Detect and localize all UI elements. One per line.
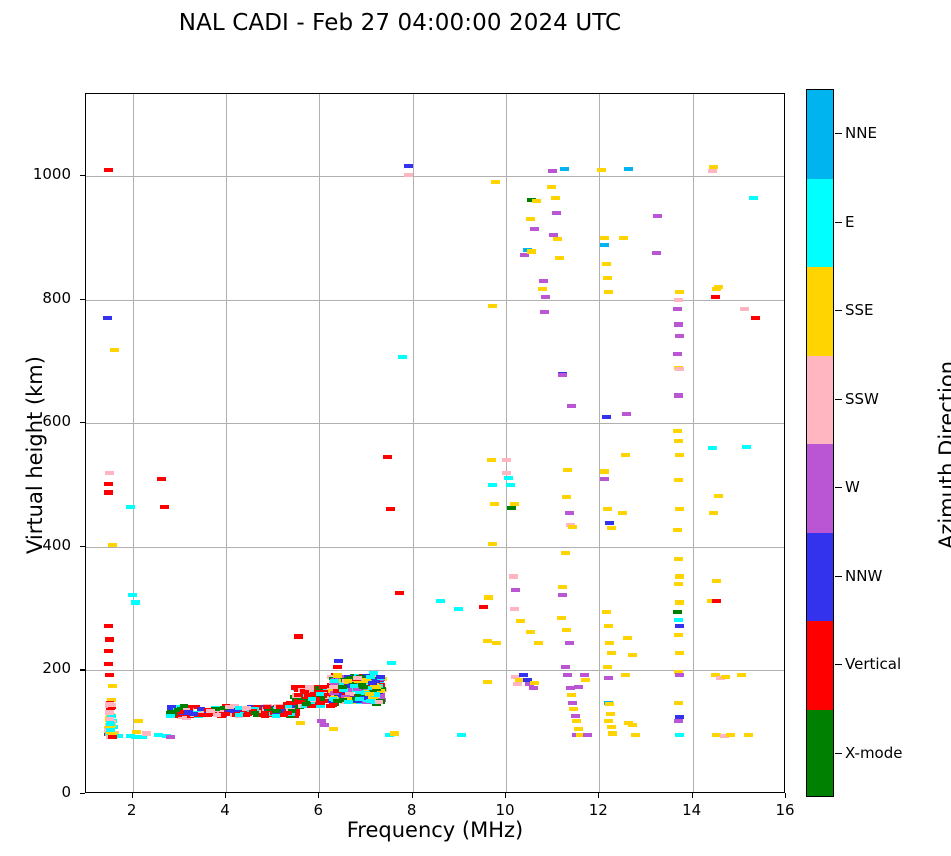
colorbar-label-nne: NNE: [845, 124, 877, 142]
echo-point: [263, 705, 272, 709]
echo-point: [581, 678, 590, 682]
y-tick-label: 1000: [11, 165, 71, 183]
echo-point: [674, 701, 683, 705]
echo-point: [628, 723, 637, 727]
echo-point: [737, 673, 746, 677]
echo-point: [375, 700, 384, 704]
x-tick-label: 14: [662, 801, 722, 819]
echo-point: [365, 692, 374, 696]
echo-point: [607, 651, 616, 655]
echo-point: [106, 717, 115, 721]
colorbar-segment-x-mode[interactable]: [807, 710, 833, 798]
colorbar-segment-sse[interactable]: [807, 267, 833, 356]
echo-point: [744, 733, 753, 737]
echo-point: [329, 727, 338, 731]
colorbar-tick: [835, 576, 842, 577]
echo-point: [604, 719, 613, 723]
echo-point: [603, 507, 612, 511]
echo-point: [184, 710, 193, 714]
echo-point: [562, 495, 571, 499]
echo-point: [502, 471, 511, 475]
colorbar-tick: [835, 222, 842, 223]
echo-point: [534, 641, 543, 645]
echo-point: [510, 502, 519, 506]
echo-point: [276, 705, 285, 709]
x-tick: [225, 793, 226, 798]
colorbar-segment-ssw[interactable]: [807, 356, 833, 445]
echo-point: [350, 684, 359, 688]
echo-point: [675, 624, 684, 628]
echo-point: [319, 685, 328, 689]
echo-point: [104, 624, 113, 628]
echo-point: [294, 634, 303, 638]
x-tick: [412, 793, 413, 798]
x-tick-label: 4: [195, 801, 255, 819]
echo-point: [674, 478, 683, 482]
x-tick: [598, 793, 599, 798]
colorbar-label-ssw: SSW: [845, 390, 879, 408]
echo-point: [622, 412, 631, 416]
echo-point: [359, 685, 368, 689]
echo-point: [105, 702, 114, 706]
echo-point: [673, 307, 682, 311]
echo-point: [166, 735, 175, 739]
echo-point: [330, 679, 339, 683]
ionogram-figure: NAL CADI - Feb 27 04:00:00 2024 UTC 2468…: [0, 0, 951, 856]
echo-point: [551, 196, 560, 200]
echo-point: [529, 686, 538, 690]
echo-point: [558, 593, 567, 597]
echo-point: [142, 731, 151, 735]
echo-point: [507, 506, 516, 510]
echo-point: [561, 665, 570, 669]
echo-point: [618, 511, 627, 515]
echo-point: [673, 429, 682, 433]
echo-point: [302, 702, 311, 706]
echo-point: [366, 699, 375, 703]
echo-point: [316, 701, 325, 705]
echo-point: [530, 227, 539, 231]
echo-point: [621, 453, 630, 457]
echo-point: [180, 704, 189, 708]
colorbar-title: Azimuth Direction: [935, 205, 951, 705]
echo-point: [709, 511, 718, 515]
echo-point: [674, 719, 683, 723]
echo-point: [386, 507, 395, 511]
echo-point: [675, 733, 684, 737]
echo-point: [126, 505, 135, 509]
echo-point: [628, 653, 637, 657]
colorbar-tick: [835, 664, 842, 665]
echo-point: [368, 681, 377, 685]
echo-point: [560, 167, 569, 171]
echo-point: [334, 659, 343, 663]
echo-point: [526, 217, 535, 221]
echo-point: [675, 574, 684, 578]
colorbar-segment-e[interactable]: [807, 179, 833, 268]
echo-point: [160, 505, 169, 509]
colorbar-label-sse: SSE: [845, 301, 874, 319]
echo-point: [597, 168, 606, 172]
x-tick-label: 10: [475, 801, 535, 819]
y-tick: [80, 299, 85, 300]
echo-point: [492, 641, 501, 645]
echo-point: [454, 607, 463, 611]
echo-point: [558, 585, 567, 589]
echo-point: [353, 676, 362, 680]
echo-point: [571, 714, 580, 718]
echo-point: [355, 697, 364, 701]
echo-point: [726, 733, 735, 737]
echo-point: [106, 728, 115, 732]
x-tick: [785, 793, 786, 798]
echo-point: [488, 542, 497, 546]
echo-point: [510, 607, 519, 611]
echo-point: [203, 713, 212, 717]
echo-point: [624, 167, 633, 171]
echo-point: [605, 521, 614, 525]
echo-point: [235, 713, 244, 717]
echo-point: [105, 471, 114, 475]
y-tick: [80, 175, 85, 176]
echo-point: [157, 477, 166, 481]
echo-point: [538, 287, 547, 291]
echo-point: [540, 310, 549, 314]
echo-point: [166, 714, 175, 718]
echo-point: [491, 180, 500, 184]
echo-point: [721, 675, 730, 679]
echo-point: [673, 528, 682, 532]
y-tick: [80, 422, 85, 423]
colorbar[interactable]: [806, 89, 834, 797]
x-tick-label: 2: [102, 801, 162, 819]
echo-point: [105, 673, 114, 677]
echo-point: [574, 727, 583, 731]
echo-point: [308, 697, 317, 701]
echo-point: [604, 624, 613, 628]
echo-point: [711, 295, 720, 299]
echo-point: [749, 196, 758, 200]
echo-point: [376, 675, 385, 679]
echo-point: [675, 600, 684, 604]
echo-point: [619, 236, 628, 240]
echo-point: [251, 711, 260, 715]
echo-point: [138, 735, 147, 739]
echo-point: [513, 682, 522, 686]
echo-point: [390, 731, 399, 735]
echo-point: [574, 685, 583, 689]
echo-point: [565, 511, 574, 515]
echo-point: [206, 709, 215, 713]
x-tick-label: 6: [288, 801, 348, 819]
echo-point: [225, 705, 234, 709]
echo-point: [675, 651, 684, 655]
echo-point: [333, 673, 342, 677]
echo-point: [344, 700, 353, 704]
colorbar-tick: [835, 487, 842, 488]
echo-point: [558, 373, 567, 377]
y-tick-label: 0: [11, 783, 71, 801]
echo-point: [398, 355, 407, 359]
y-axis-label: Virtual height (km): [23, 205, 47, 705]
echo-point: [673, 610, 682, 614]
echo-point: [483, 680, 492, 684]
echo-point: [603, 276, 612, 280]
echo-point: [333, 665, 342, 669]
echo-point: [105, 637, 114, 641]
echo-point: [674, 322, 683, 326]
echo-point: [213, 713, 222, 717]
echo-point: [568, 525, 577, 529]
echo-point: [338, 685, 347, 689]
echo-point: [516, 619, 525, 623]
echo-point: [603, 665, 612, 669]
echo-point: [552, 211, 561, 215]
echo-point: [621, 673, 630, 677]
colorbar-segment-w[interactable]: [807, 444, 833, 533]
colorbar-label-x-mode: X-mode: [845, 744, 902, 762]
echo-point: [300, 689, 309, 693]
echo-point: [108, 684, 117, 688]
echo-point: [131, 600, 140, 604]
echo-point: [483, 639, 492, 643]
x-tick: [505, 793, 506, 798]
echo-point: [742, 445, 751, 449]
echo-point: [167, 710, 176, 714]
echo-point: [607, 526, 616, 530]
echo-point: [383, 455, 392, 459]
echo-point: [712, 599, 721, 603]
scatter-points: [86, 94, 784, 792]
echo-point: [395, 591, 404, 595]
echo-point: [607, 725, 616, 729]
echo-point: [623, 636, 632, 640]
echo-point: [526, 630, 535, 634]
echo-point: [674, 582, 683, 586]
echo-point: [320, 723, 329, 727]
chart-title: NAL CADI - Feb 27 04:00:00 2024 UTC: [0, 10, 800, 36]
echo-point: [333, 699, 342, 703]
echo-point: [567, 693, 576, 697]
x-tick-label: 16: [755, 801, 815, 819]
echo-point: [675, 507, 684, 511]
echo-point: [714, 494, 723, 498]
echo-point: [567, 404, 576, 408]
echo-point: [600, 469, 609, 473]
echo-point: [104, 482, 113, 486]
plot-area: [85, 93, 785, 793]
echo-point: [557, 616, 566, 620]
echo-point: [604, 290, 613, 294]
echo-point: [553, 237, 562, 241]
echo-point: [479, 605, 488, 609]
x-tick-label: 12: [568, 801, 628, 819]
echo-point: [283, 711, 292, 715]
echo-point: [605, 702, 614, 706]
echo-point: [404, 173, 413, 177]
x-tick: [692, 793, 693, 798]
echo-point: [541, 295, 550, 299]
y-tick: [80, 669, 85, 670]
echo-point: [261, 714, 270, 718]
echo-point: [110, 348, 119, 352]
colorbar-segment-vertical[interactable]: [807, 621, 833, 710]
echo-point: [488, 304, 497, 308]
echo-point: [104, 490, 113, 494]
echo-point: [751, 316, 760, 320]
echo-point: [104, 649, 113, 653]
echo-point: [674, 393, 683, 397]
echo-point: [605, 641, 614, 645]
echo-point: [366, 675, 375, 679]
echo-point: [132, 730, 141, 734]
x-tick: [318, 793, 319, 798]
echo-point: [602, 262, 611, 266]
echo-point: [108, 543, 117, 547]
y-tick: [80, 793, 85, 794]
echo-point: [602, 415, 611, 419]
echo-point: [490, 502, 499, 506]
echo-point: [509, 574, 518, 578]
echo-point: [511, 588, 520, 592]
echo-point: [675, 367, 684, 371]
echo-point: [563, 673, 572, 677]
colorbar-label-w: W: [845, 478, 860, 496]
echo-point: [740, 307, 749, 311]
echo-point: [108, 735, 117, 739]
echo-point: [104, 168, 113, 172]
echo-point: [602, 610, 611, 614]
echo-point: [572, 719, 581, 723]
echo-point: [714, 285, 723, 289]
echo-point: [675, 334, 684, 338]
echo-point: [344, 679, 353, 683]
echo-point: [604, 676, 613, 680]
echo-point: [653, 214, 662, 218]
echo-point: [502, 458, 511, 462]
colorbar-label-nnw: NNW: [845, 567, 882, 585]
colorbar-tick: [835, 753, 842, 754]
echo-point: [674, 439, 683, 443]
echo-point: [105, 710, 114, 714]
echo-point: [563, 468, 572, 472]
colorbar-tick: [835, 399, 842, 400]
x-axis-label: Frequency (MHz): [85, 818, 785, 842]
echo-point: [673, 352, 682, 356]
echo-point: [674, 633, 683, 637]
echo-point: [506, 483, 515, 487]
echo-point: [387, 661, 396, 665]
x-tick: [132, 793, 133, 798]
echo-point: [242, 706, 251, 710]
echo-point: [562, 628, 571, 632]
echo-point: [527, 249, 536, 253]
echo-point: [484, 595, 493, 599]
echo-point: [675, 290, 684, 294]
echo-point: [488, 483, 497, 487]
echo-point: [568, 701, 577, 705]
echo-point: [555, 256, 564, 260]
colorbar-segment-nnw[interactable]: [807, 533, 833, 622]
echo-point: [305, 685, 314, 689]
echo-point: [128, 593, 137, 597]
echo-point: [316, 692, 325, 696]
echo-point: [708, 169, 717, 173]
x-tick-label: 8: [382, 801, 442, 819]
echo-point: [329, 685, 338, 689]
echo-point: [539, 279, 548, 283]
echo-point: [561, 551, 570, 555]
echo-point: [600, 236, 609, 240]
echo-point: [134, 719, 143, 723]
echo-point: [652, 251, 661, 255]
echo-point: [674, 618, 683, 622]
echo-point: [600, 243, 609, 247]
echo-point: [436, 599, 445, 603]
y-tick: [80, 546, 85, 547]
echo-point: [504, 476, 513, 480]
echo-point: [103, 316, 112, 320]
echo-point: [712, 579, 721, 583]
echo-point: [631, 733, 640, 737]
echo-point: [547, 185, 556, 189]
echo-point: [457, 733, 466, 737]
colorbar-tick: [835, 133, 842, 134]
echo-point: [675, 673, 684, 677]
echo-point: [404, 164, 413, 168]
echo-point: [565, 641, 574, 645]
echo-point: [675, 453, 684, 457]
echo-point: [608, 731, 617, 735]
echo-point: [600, 477, 609, 481]
echo-point: [487, 458, 496, 462]
echo-point: [104, 662, 113, 666]
echo-point: [606, 712, 615, 716]
echo-point: [532, 199, 541, 203]
colorbar-label-e: E: [845, 213, 854, 231]
echo-point: [674, 298, 683, 302]
echo-point: [708, 446, 717, 450]
echo-point: [674, 557, 683, 561]
colorbar-tick: [835, 310, 842, 311]
echo-point: [296, 721, 305, 725]
echo-point: [530, 681, 539, 685]
colorbar-label-vertical: Vertical: [845, 655, 901, 673]
echo-point: [583, 733, 592, 737]
echo-point: [548, 169, 557, 173]
colorbar-segment-nne[interactable]: [807, 90, 833, 179]
echo-point: [569, 707, 578, 711]
